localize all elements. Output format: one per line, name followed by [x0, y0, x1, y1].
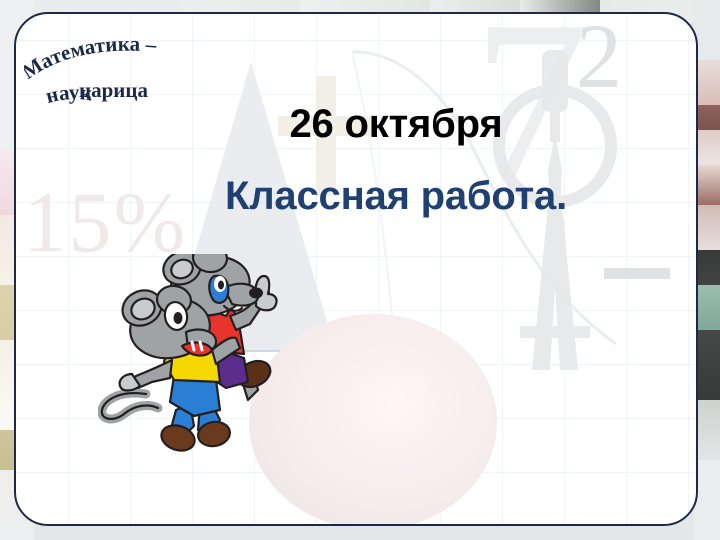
lesson-title: Классная работа. [136, 174, 656, 218]
minus-sign-icon [604, 268, 670, 279]
motto-line-1: Математика – [24, 32, 158, 84]
motto-line-3: наук [43, 80, 94, 108]
motto-line-1-text: Математика – [24, 32, 158, 84]
presentation-slide: 7 2 .15% Математика – ца [0, 0, 720, 540]
two-cartoon-mice-illustration [98, 254, 288, 459]
watermark-exponent-two: 2 [576, 12, 622, 102]
motto-logo: Математика – царица наук [24, 32, 244, 124]
slide-card: 7 2 .15% Математика – ца [14, 12, 698, 526]
motto-line-3-text: наук [43, 80, 94, 108]
